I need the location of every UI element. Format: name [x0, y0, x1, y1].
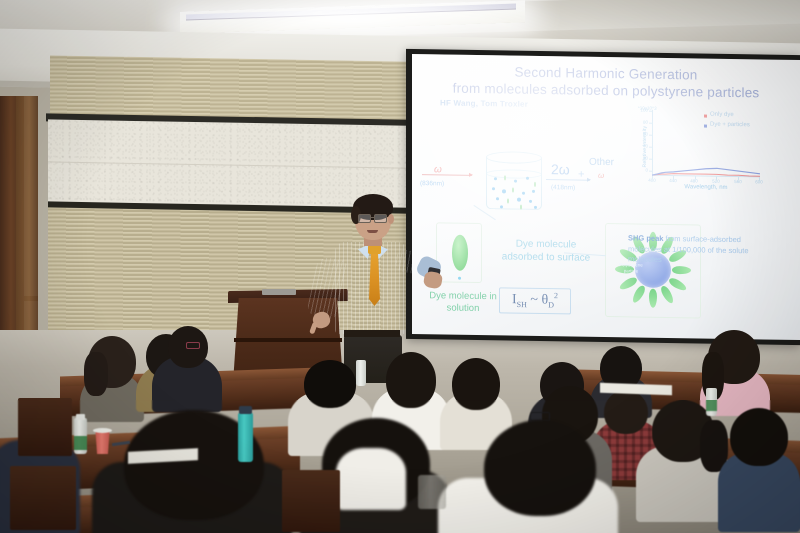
chart-y-tick: 100	[632, 107, 648, 112]
chart-x-tick: 520	[708, 179, 724, 184]
lectern-device	[262, 289, 296, 295]
shg-formula: ISH ~ θD2	[499, 290, 571, 310]
legend-swatch-0	[704, 115, 707, 118]
bottle-label-green	[74, 436, 87, 450]
incoming-wavelength-label: (836nm)	[420, 180, 444, 187]
outgoing-plus-sign: +	[578, 169, 584, 181]
chart-x-axis-label: Wavelength, nm	[652, 184, 760, 192]
bottle-cap	[76, 414, 85, 420]
shg-peak-text: SHG peak from surface-adsorbed molecules…	[628, 233, 756, 267]
hoodie-hood	[336, 448, 406, 510]
dye-molecule-shape	[452, 235, 468, 271]
bottle-label-back-right	[706, 400, 717, 411]
chart-y-tick: 20	[632, 155, 648, 160]
water-bottle-clear	[356, 360, 366, 386]
presentation-slide: Second Harmonic Generation from molecule…	[412, 54, 800, 340]
chart-x-tick: 560	[730, 179, 746, 184]
slide-authors: HF Wang, Tom Troxler	[440, 98, 528, 108]
chart-y-tick: 0	[632, 167, 648, 172]
presenter-glasses-left-lens	[358, 214, 371, 223]
projection-screen: Second Harmonic Generation from molecule…	[412, 54, 800, 340]
presenter-tie-knot	[368, 245, 381, 254]
chart-x-tick: 600	[751, 179, 767, 184]
slide-title-line1: Second Harmonic Generation	[514, 65, 697, 83]
presenter-glasses-right-lens	[374, 214, 387, 223]
shg-peak-bold: SHG peak	[628, 233, 663, 243]
audience-glasses	[186, 342, 200, 349]
legend-label-1: Dye + particles	[710, 122, 750, 129]
chart-y-tick: 80	[632, 119, 648, 124]
teal-bottle-cap	[239, 406, 252, 414]
chart-y-tick: 60	[632, 131, 648, 136]
presenter-ear	[388, 214, 394, 224]
incoming-beam-arrow	[422, 174, 472, 176]
chart-x-tick: 400	[644, 178, 660, 183]
cup-rim	[93, 428, 112, 433]
lecture-hall-photo: Second Harmonic Generation from molecule…	[0, 0, 800, 533]
lectern-trim	[234, 338, 342, 342]
presenter-belt	[344, 330, 400, 337]
incoming-omega-label: ω	[434, 164, 442, 175]
presenter-mouth	[367, 230, 378, 233]
dye-in-solution-label: Dye molecule in solution	[420, 290, 506, 315]
adsorbed-dye-label: Dye molecule adsorbed to surface	[500, 237, 592, 264]
outgoing-other-label: Other	[589, 157, 614, 168]
legend-label-0: Only dye	[710, 112, 734, 118]
solution-dot	[458, 277, 461, 280]
outgoing-wavelength-label: (418nm)	[551, 184, 575, 191]
chart-x-tick: 440	[665, 178, 681, 183]
chart-x-tick: 480	[686, 178, 702, 183]
legend-swatch-1	[704, 125, 707, 128]
chart-curves	[652, 110, 760, 178]
slide-title: Second Harmonic Generation from molecule…	[412, 62, 800, 102]
presenter-glasses-bridge	[371, 217, 374, 218]
chart-y-tick: 40	[632, 143, 648, 148]
chair-back-left	[18, 398, 72, 456]
beaker-illustration	[486, 151, 542, 214]
chair-center	[282, 470, 340, 532]
water-bottle-teal	[238, 412, 253, 462]
chair-left	[10, 466, 76, 530]
outgoing-omega-label: 2ω	[551, 161, 570, 177]
spectrum-chart: *10x10^3 Relative Intensity Wavelength, …	[620, 105, 772, 199]
outgoing-other-omega: ω	[598, 171, 604, 180]
glass-jar	[418, 475, 446, 509]
